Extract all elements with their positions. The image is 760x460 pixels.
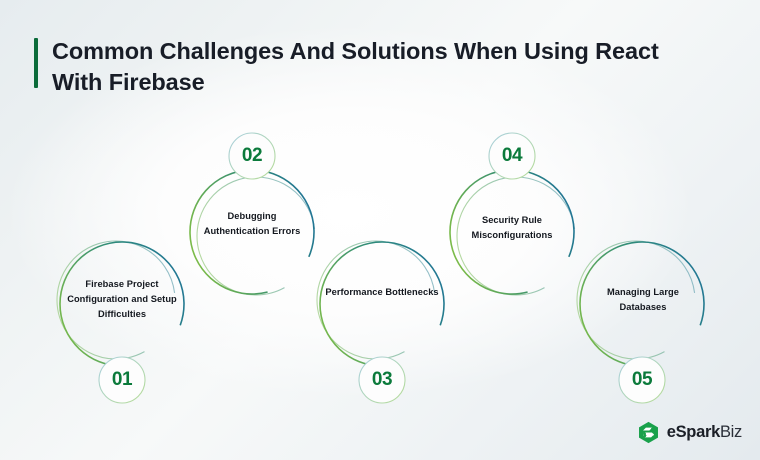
- espark-hexagon-icon: [637, 421, 660, 444]
- badge-ring-1: [99, 357, 145, 403]
- brand-name-light: Biz: [720, 423, 742, 441]
- badge-ring-3: [359, 357, 405, 403]
- brand-name: eSparkBiz: [667, 423, 742, 442]
- infographic-canvas: Common Challenges And Solutions When Usi…: [0, 0, 760, 460]
- node-rings-graphic: [0, 0, 760, 460]
- badge-ring-5: [619, 357, 665, 403]
- brand-logo: eSparkBiz: [637, 421, 742, 444]
- badge-ring-4: [489, 133, 535, 179]
- brand-name-bold: eSpark: [667, 423, 720, 441]
- badge-ring-2: [229, 133, 275, 179]
